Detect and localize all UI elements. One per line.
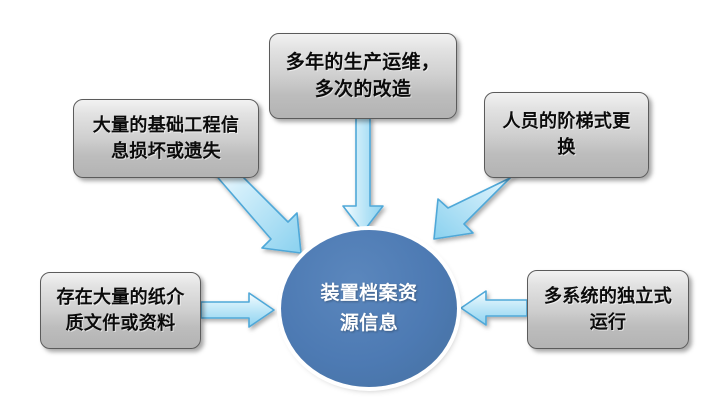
center-node-label: 装置档案资 源信息	[281, 279, 457, 338]
node-top-left-label: 大量的基础工程信 息损坏或遗失	[74, 113, 258, 164]
node-left[interactable]: 存在大量的纸介 质文件或资料	[40, 272, 201, 349]
node-right[interactable]: 多系统的独立式 运行	[527, 270, 689, 349]
center-node[interactable]: 装置档案资 源信息	[281, 230, 457, 387]
arrow-left-bot	[201, 293, 274, 327]
arrow-top	[343, 118, 383, 232]
node-top-left[interactable]: 大量的基础工程信 息损坏或遗失	[73, 99, 259, 178]
node-left-label: 存在大量的纸介 质文件或资料	[41, 285, 200, 336]
node-right-label: 多系统的独立式 运行	[528, 284, 688, 335]
node-top[interactable]: 多年的生产运维， 多次的改造	[269, 33, 457, 119]
node-top-right-label: 人员的阶梯式更 换	[485, 109, 648, 160]
node-top-right[interactable]: 人员的阶梯式更 换	[484, 92, 649, 178]
node-top-label: 多年的生产运维， 多次的改造	[270, 49, 456, 103]
arrow-right-bot	[461, 291, 527, 325]
diagram-canvas: 多年的生产运维， 多次的改造 大量的基础工程信 息损坏或遗失 人员的阶梯式更 换…	[0, 0, 723, 417]
